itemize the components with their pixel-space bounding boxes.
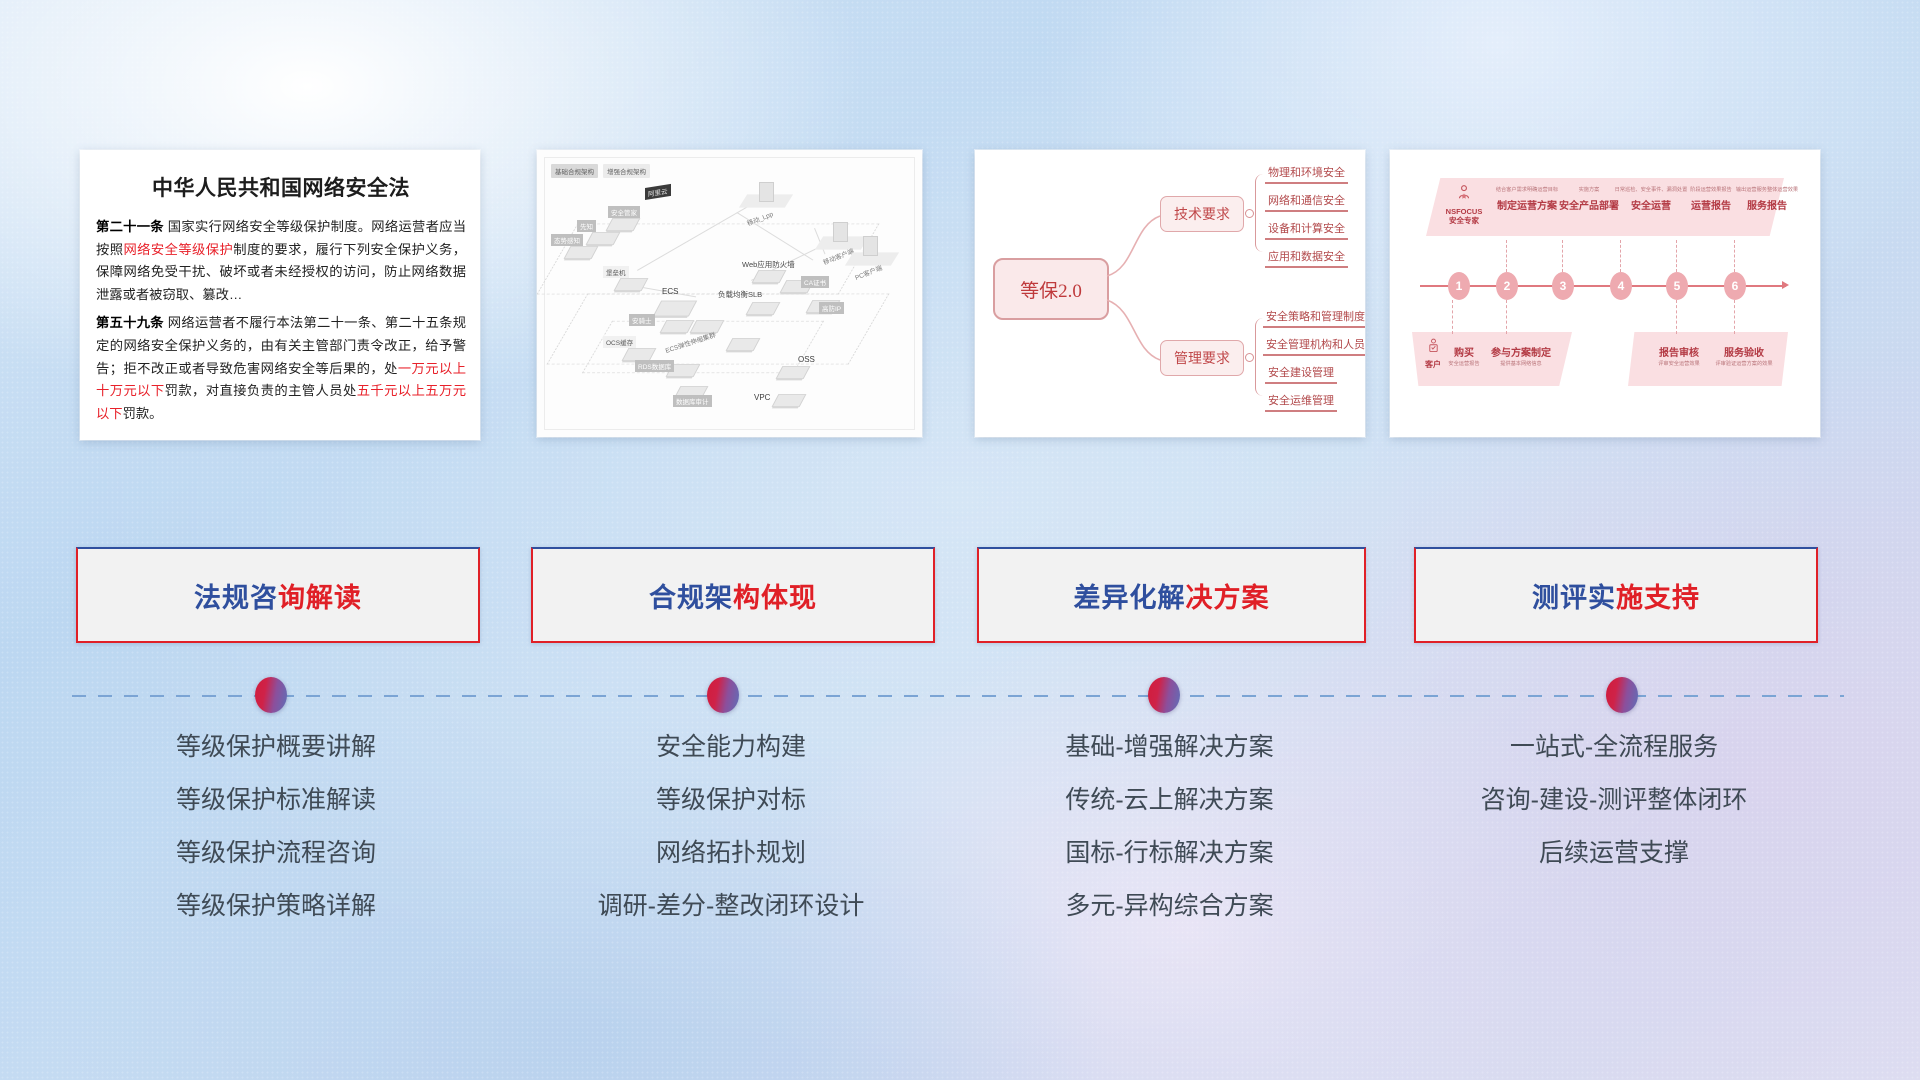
arch-label-slb: 负载均衡SLB xyxy=(715,288,765,301)
tab-label-2-head: 差异化解 xyxy=(1074,583,1186,613)
flow-leader-top-5 xyxy=(1676,240,1677,272)
timeline-dot-3[interactable] xyxy=(1606,677,1638,713)
flow-step-customer-1-sub: 安全运营报告 xyxy=(1442,362,1486,368)
flow-leader-bottom-1 xyxy=(1452,300,1453,334)
arch-srv-pcclient xyxy=(863,236,878,256)
law-article-number-0: 第二十一条 xyxy=(96,219,164,234)
flow-canvas: NSFOCUS 安全专家 结合客户需求明确运营目标 制定运营方案 实施方案 安全… xyxy=(1390,150,1820,437)
card-service-flow[interactable]: NSFOCUS 安全专家 结合客户需求明确运营目标 制定运营方案 实施方案 安全… xyxy=(1390,150,1820,437)
arch-tag-enhanced: 增强合规架构 xyxy=(603,164,650,178)
list-item: 多元-异构综合方案 xyxy=(977,894,1362,919)
flow-step-provider-5-main: 服务报告 xyxy=(1728,197,1806,212)
tab-label-2: 差异化解决方案 xyxy=(1074,576,1270,615)
arch-label-vpc: VPC xyxy=(751,392,773,403)
arch-label-anquanguanjia: 安全管家 xyxy=(608,206,640,218)
flow-step-customer-2-sub: 提供基本网络信息 xyxy=(1486,362,1556,368)
list-item: 等级保护标准解读 xyxy=(76,788,476,813)
flow-node-5[interactable]: 5 xyxy=(1666,272,1688,300)
flow-step-customer-1: 购买 安全运营报告 xyxy=(1442,344,1486,368)
tab-regulation-consulting[interactable]: 法规咨询解读 xyxy=(76,547,480,643)
tab-label-1-tail: 构体现 xyxy=(733,583,817,613)
list-item: 传统-云上解决方案 xyxy=(977,788,1362,813)
customer-icon xyxy=(1426,338,1441,354)
flow-step-customer-2: 参与方案制定 提供基本网络信息 xyxy=(1486,344,1556,368)
mindmap-leaf-mgmt-4[interactable]: 安全运维管理 xyxy=(1265,392,1337,412)
list-item: 等级保护对标 xyxy=(531,788,931,813)
list-item: 咨询-建设-测评整体闭环 xyxy=(1414,788,1814,813)
timeline-dot-1[interactable] xyxy=(707,677,739,713)
arch-srv-mobileapp xyxy=(759,182,774,202)
mindmap-leaf-mgmt-3[interactable]: 安全建设管理 xyxy=(1265,364,1337,384)
flow-actor-provider: NSFOCUS 安全专家 xyxy=(1436,184,1492,225)
list-item: 一站式-全流程服务 xyxy=(1414,735,1814,760)
tab-label-3: 测评实施支持 xyxy=(1532,576,1700,615)
slide-content: 中华人民共和国网络安全法 第二十一条 国家实行网络安全等级保护制度。网络运营者应… xyxy=(0,0,1920,1080)
law-segment-1-2: 罚款，对直接负责的主管人员处 xyxy=(165,383,357,398)
tab-label-3-tail: 施支持 xyxy=(1616,583,1700,613)
list-item: 网络拓扑规划 xyxy=(531,841,931,866)
mindmap-branch-technical[interactable]: 技术要求 xyxy=(1160,196,1244,232)
list-item: 安全能力构建 xyxy=(531,735,931,760)
flow-leader-top-4 xyxy=(1620,240,1621,272)
flow-provider-name-line1: NSFOCUS xyxy=(1436,207,1492,216)
flow-node-4[interactable]: 4 xyxy=(1610,272,1632,300)
architecture-canvas: 基础合规架构 增强合规架构 阿里云 安全管家 先知 xyxy=(537,150,922,437)
mindmap-leaf-tech-2[interactable]: 网络和通信安全 xyxy=(1265,192,1348,212)
security-expert-icon xyxy=(1455,184,1473,202)
flow-node-1[interactable]: 1 xyxy=(1448,272,1470,300)
mindmap-collapse-dot-technical[interactable] xyxy=(1245,209,1254,218)
flow-leader-bottom-5 xyxy=(1676,300,1677,334)
arch-srv-mobileclient xyxy=(833,222,848,242)
flow-leader-top-6 xyxy=(1734,240,1735,272)
flow-step-provider-5: 输出运营服务整体运营效果 服务报告 xyxy=(1728,188,1806,212)
arch-tag-basic: 基础合规架构 xyxy=(551,164,598,178)
arch-label-ca: CA证书 xyxy=(801,276,829,288)
mindmap-leaf-tech-1[interactable]: 物理和环境安全 xyxy=(1265,164,1348,184)
arch-label-waf: Web应用防火墙 xyxy=(739,258,798,271)
detail-column-0: 等级保护概要讲解等级保护标准解读等级保护流程咨询等级保护策略详解 xyxy=(76,735,476,947)
timeline-dot-0[interactable] xyxy=(255,677,287,713)
tab-label-1-head: 合规架 xyxy=(649,583,733,613)
flow-step-customer-4-sub: 评审验证运营方案的效果 xyxy=(1708,362,1780,368)
card-law-text[interactable]: 中华人民共和国网络安全法 第二十一条 国家实行网络安全等级保护制度。网络运营者应… xyxy=(80,150,480,440)
law-title: 中华人民共和国网络安全法 xyxy=(96,172,466,202)
list-item: 后续运营支撑 xyxy=(1414,841,1814,866)
list-item: 基础-增强解决方案 xyxy=(977,735,1362,760)
arch-label-baolei: 堡垒机 xyxy=(603,266,629,278)
tab-label-0: 法规咨询解读 xyxy=(194,576,362,615)
timeline-dot-2[interactable] xyxy=(1148,677,1180,713)
list-item: 国标-行标解决方案 xyxy=(977,841,1362,866)
mindmap-leaf-tech-3[interactable]: 设备和计算安全 xyxy=(1265,220,1348,240)
detail-column-3: 一站式-全流程服务咨询-建设-测评整体闭环后续运营支撑 xyxy=(1414,735,1814,894)
tabs-row: 法规咨询解读 合规架构体现 差异化解决方案 测评实施支持 xyxy=(0,547,1920,639)
list-item: 调研-差分-整改闭环设计 xyxy=(531,894,931,919)
card-mindmap[interactable]: 等保2.0 技术要求 管理要求 物理和环境安全 网络和通信安全 设备和计算安全 … xyxy=(975,150,1365,437)
flow-node-2[interactable]: 2 xyxy=(1496,272,1518,300)
flow-step-provider-5-sub: 输出运营服务整体运营效果 xyxy=(1728,188,1806,194)
flow-leader-bottom-2 xyxy=(1506,300,1507,334)
tab-differentiated-solution[interactable]: 差异化解决方案 xyxy=(977,547,1366,643)
law-body: 第二十一条 国家实行网络安全等级保护制度。网络运营者应当按照网络安全等级保护制度… xyxy=(96,216,466,425)
mindmap-bracket-technical xyxy=(1255,174,1266,252)
law-segment-1-4: 罚款。 xyxy=(123,406,163,421)
law-paragraph-0: 第二十一条 国家实行网络安全等级保护制度。网络运营者应当按照网络安全等级保护制度… xyxy=(96,216,466,306)
flow-axis-arrow xyxy=(1782,281,1789,289)
arch-label-highdefip: 高防IP xyxy=(819,302,844,314)
law-article-number-1: 第五十九条 xyxy=(96,315,164,330)
arch-label-dbaudit: 数据库审计 xyxy=(673,395,712,407)
flow-step-customer-3: 报告审核 评审安全运营效果 xyxy=(1646,344,1712,368)
timeline-divider xyxy=(72,695,1844,697)
mindmap-leaf-tech-4[interactable]: 应用和数据安全 xyxy=(1265,248,1348,268)
arch-label-oss: OSS xyxy=(795,354,818,365)
flow-step-customer-4-main: 服务验收 xyxy=(1708,344,1780,359)
arch-label-ecs: ECS xyxy=(659,286,681,297)
flow-node-6[interactable]: 6 xyxy=(1724,272,1746,300)
cards-row: 中华人民共和国网络安全法 第二十一条 国家实行网络安全等级保护制度。网络运营者应… xyxy=(0,150,1920,450)
flow-step-customer-4: 服务验收 评审验证运营方案的效果 xyxy=(1708,344,1780,368)
tab-compliance-architecture[interactable]: 合规架构体现 xyxy=(531,547,935,643)
list-item: 等级保护策略详解 xyxy=(76,894,476,919)
law-paragraph-1: 第五十九条 网络运营者不履行本法第二十一条、第二十五条规定的网络安全保护义务的，… xyxy=(96,312,466,425)
list-item: 等级保护概要讲解 xyxy=(76,735,476,760)
tab-label-0-head: 法规咨 xyxy=(194,583,278,613)
mindmap-branch-management[interactable]: 管理要求 xyxy=(1160,340,1244,376)
mindmap-collapse-dot-management[interactable] xyxy=(1245,353,1254,362)
mindmap-leaf-mgmt-1[interactable]: 安全策略和管理制度 xyxy=(1263,308,1365,328)
flow-provider-name-line2: 安全专家 xyxy=(1436,216,1492,225)
mindmap-bracket-management xyxy=(1255,318,1266,396)
list-item: 等级保护流程咨询 xyxy=(76,841,476,866)
arch-label-xianzhi: 先知 xyxy=(577,220,596,232)
arch-label-rds: RDS数据库 xyxy=(635,360,674,372)
flow-node-3[interactable]: 3 xyxy=(1552,272,1574,300)
flow-step-customer-3-sub: 评审安全运营效果 xyxy=(1646,362,1712,368)
flow-leader-top-2 xyxy=(1506,240,1507,272)
arch-label-taishiganzhi: 态势感知 xyxy=(551,234,583,246)
detail-column-1: 安全能力构建等级保护对标网络拓扑规划调研-差分-整改闭环设计 xyxy=(531,735,931,947)
mindmap-leaf-mgmt-2[interactable]: 安全管理机构和人员 xyxy=(1263,336,1365,356)
flow-leader-top-3 xyxy=(1562,240,1563,272)
tab-label-3-head: 测评实 xyxy=(1532,583,1616,613)
detail-columns: 等级保护概要讲解等级保护标准解读等级保护流程咨询等级保护策略详解 安全能力构建等… xyxy=(0,735,1920,955)
tab-label-1: 合规架构体现 xyxy=(649,576,817,615)
flow-step-customer-3-main: 报告审核 xyxy=(1646,344,1712,359)
tab-label-0-tail: 询解读 xyxy=(278,583,362,613)
tab-assessment-support[interactable]: 测评实施支持 xyxy=(1414,547,1818,643)
law-card-inner: 中华人民共和国网络安全法 第二十一条 国家实行网络安全等级保护制度。网络运营者应… xyxy=(80,150,480,440)
flow-step-customer-1-main: 购买 xyxy=(1442,344,1486,359)
detail-column-2: 基础-增强解决方案传统-云上解决方案国标-行标解决方案多元-异构综合方案 xyxy=(977,735,1362,947)
arch-label-ocs: OCS缓存 xyxy=(603,336,636,348)
arch-label-anqishi: 安骑士 xyxy=(629,314,655,326)
flow-step-customer-2-main: 参与方案制定 xyxy=(1486,344,1556,359)
card-architecture-diagram[interactable]: 基础合规架构 增强合规架构 阿里云 安全管家 先知 xyxy=(537,150,922,437)
tab-label-2-tail: 决方案 xyxy=(1186,583,1270,613)
law-segment-0-1: 网络安全等级保护 xyxy=(123,242,233,257)
mindmap-canvas: 等保2.0 技术要求 管理要求 物理和环境安全 网络和通信安全 设备和计算安全 … xyxy=(975,150,1365,437)
flow-leader-bottom-6 xyxy=(1734,300,1735,334)
